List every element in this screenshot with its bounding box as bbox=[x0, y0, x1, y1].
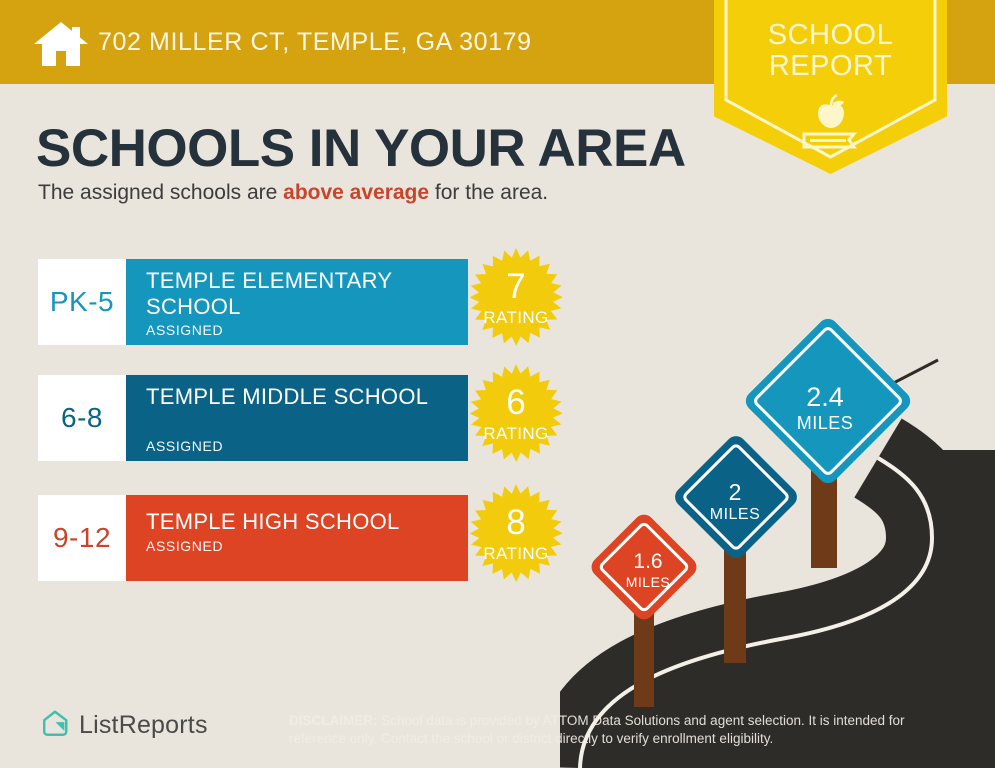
rating-value: 8 bbox=[460, 505, 572, 541]
school-name: TEMPLE MIDDLE SCHOOL bbox=[146, 384, 462, 410]
sign-distance-unit: MILES bbox=[745, 414, 905, 432]
rating-starburst: 7 RATING bbox=[460, 246, 572, 358]
sign-distance-unit: MILES bbox=[588, 575, 708, 589]
grade-range-box: PK-5 bbox=[38, 259, 126, 345]
school-report-infographic: 702 MILLER CT, TEMPLE, GA 30179 SCHOOL R… bbox=[0, 0, 995, 768]
badge-title: SCHOOL REPORT bbox=[714, 20, 947, 82]
school-name: TEMPLE HIGH SCHOOL bbox=[146, 509, 462, 535]
disclaimer-text: DISCLAIMER: School data is provided by A… bbox=[289, 712, 949, 748]
school-report-badge: SCHOOL REPORT bbox=[714, 0, 947, 174]
disclaimer-body: School data is provided by ATTOM Data So… bbox=[289, 713, 905, 746]
apple-on-book-icon bbox=[796, 94, 866, 152]
page-subtitle: The assigned schools are above average f… bbox=[38, 181, 548, 205]
grade-range-label: 9-12 bbox=[53, 522, 111, 554]
rating-label: RATING bbox=[460, 308, 572, 328]
rating-label: RATING bbox=[460, 544, 572, 564]
rating-label: RATING bbox=[460, 424, 572, 444]
badge-title-line2: REPORT bbox=[714, 51, 947, 82]
school-row[interactable]: 6-8 TEMPLE MIDDLE SCHOOL ASSIGNED 6 RATI… bbox=[38, 375, 468, 461]
subtitle-after: for the area. bbox=[429, 181, 548, 204]
assigned-status: ASSIGNED bbox=[146, 322, 223, 338]
listreports-house-tag-icon bbox=[40, 708, 70, 743]
school-name-bar: TEMPLE MIDDLE SCHOOL ASSIGNED bbox=[126, 375, 468, 461]
rating-value: 7 bbox=[460, 269, 572, 305]
road-illustration: 2.4 MILES 2 MILES 1.6 MILES bbox=[560, 300, 995, 768]
school-name: TEMPLE ELEMENTARY SCHOOL bbox=[146, 268, 462, 320]
rating-value: 6 bbox=[460, 385, 572, 421]
subtitle-accent: above average bbox=[283, 181, 429, 204]
rating-starburst: 8 RATING bbox=[460, 482, 572, 594]
grade-range-label: PK-5 bbox=[50, 286, 114, 318]
grade-range-box: 6-8 bbox=[38, 375, 126, 461]
assigned-status: ASSIGNED bbox=[146, 538, 223, 554]
rating-starburst: 6 RATING bbox=[460, 362, 572, 474]
property-address: 702 MILLER CT, TEMPLE, GA 30179 bbox=[98, 28, 532, 57]
distance-sign: 1.6 MILES bbox=[588, 515, 708, 705]
disclaimer-label: DISCLAIMER: bbox=[289, 713, 378, 728]
school-name-bar: TEMPLE HIGH SCHOOL ASSIGNED bbox=[126, 495, 468, 581]
home-icon bbox=[32, 20, 90, 68]
sign-distance-value: 2 bbox=[670, 481, 800, 504]
sign-distance-value: 2.4 bbox=[745, 384, 905, 411]
school-row[interactable]: 9-12 TEMPLE HIGH SCHOOL ASSIGNED 8 RATIN… bbox=[38, 495, 468, 581]
listreports-logo-text: ListReports bbox=[79, 711, 208, 740]
subtitle-before: The assigned schools are bbox=[38, 181, 283, 204]
grade-range-box: 9-12 bbox=[38, 495, 126, 581]
page-title: SCHOOLS IN YOUR AREA bbox=[36, 118, 686, 179]
badge-title-line1: SCHOOL bbox=[714, 20, 947, 51]
listreports-logo[interactable]: ListReports bbox=[40, 708, 208, 743]
assigned-status: ASSIGNED bbox=[146, 438, 223, 454]
sign-post bbox=[724, 543, 746, 663]
grade-range-label: 6-8 bbox=[61, 402, 103, 434]
school-name-bar: TEMPLE ELEMENTARY SCHOOL ASSIGNED bbox=[126, 259, 468, 345]
school-row[interactable]: PK-5 TEMPLE ELEMENTARY SCHOOL ASSIGNED 7… bbox=[38, 259, 468, 345]
sign-post bbox=[634, 607, 654, 707]
sign-distance-value: 1.6 bbox=[588, 551, 708, 572]
